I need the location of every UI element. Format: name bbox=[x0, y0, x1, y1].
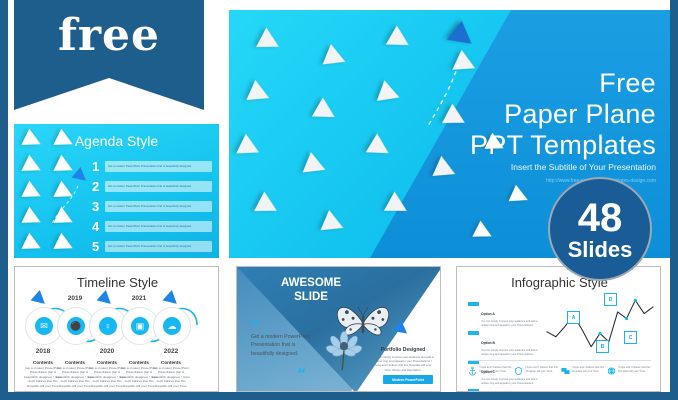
agenda-text: Get a modern PowerPoint Presentation tha… bbox=[108, 165, 192, 168]
infographic-legend: Option A You can simply impress your aud… bbox=[468, 302, 544, 392]
dumbbell-icon: ⚫ bbox=[67, 317, 85, 335]
agenda-leader-plane bbox=[72, 167, 91, 186]
timeline-year: 2021 bbox=[119, 295, 159, 302]
timeline-content-text: Get a modern PowerPoint Presentation tha… bbox=[151, 366, 191, 388]
timeline-year: 2020 bbox=[87, 348, 127, 355]
agenda-row[interactable]: 2 Get a modern PowerPoint Presentation t… bbox=[92, 178, 212, 195]
footer-text: I hope and I believe that this Template … bbox=[618, 366, 651, 376]
agenda-bar: Get a modern PowerPoint Presentation tha… bbox=[105, 161, 212, 172]
globe-icon bbox=[607, 366, 616, 376]
agenda-bar: Get a modern PowerPoint Presentation tha… bbox=[105, 221, 212, 232]
modern-powerpoint-button[interactable]: Modern PowerPoint bbox=[383, 375, 433, 384]
agenda-slide[interactable]: Agenda Style 1 Get a modern PowerPoint P… bbox=[14, 124, 219, 258]
agenda-title: Agenda Style bbox=[14, 133, 219, 149]
chart-marker-c[interactable]: C bbox=[624, 331, 637, 344]
awesome-title-line-1: AWESOME bbox=[281, 277, 341, 289]
agenda-number: 2 bbox=[92, 179, 105, 194]
agenda-bar: Get a modern PowerPoint Presentation tha… bbox=[105, 201, 212, 212]
portfolio-block: Portfolio Designed You can simply impres… bbox=[372, 347, 434, 372]
footer-item: I hope and I believe that this Template … bbox=[514, 366, 558, 376]
timeline-slide[interactable]: Timeline Style ✉ ⚫ ♀ ▣ ☁ 2018 2019 2020 bbox=[14, 266, 219, 392]
legend-text: You can simply impress your audience and… bbox=[481, 320, 541, 328]
slides-count-number: 48 bbox=[578, 198, 623, 238]
quote-close-icon: ” bbox=[297, 365, 306, 384]
infographic-slide[interactable]: Infographic Style Option A You can simpl… bbox=[456, 266, 661, 392]
footer-text: I hope and I believe that this Template … bbox=[479, 366, 512, 376]
footer-item: I hope and I believe that this Template … bbox=[468, 366, 512, 376]
footer-text: I hope and I believe that this Template … bbox=[572, 366, 605, 376]
agenda-list: 1 Get a modern PowerPoint Presentation t… bbox=[92, 158, 212, 258]
legend-item: Option A You can simply impress your aud… bbox=[468, 302, 544, 328]
camera-icon: ▣ bbox=[131, 317, 149, 335]
timeline-year: 2019 bbox=[55, 295, 95, 302]
agenda-row[interactable]: 4 Get a modern PowerPoint Presentation t… bbox=[92, 218, 212, 235]
ribbon-point bbox=[14, 78, 204, 110]
infographic-footer: I hope and I believe that this Template … bbox=[468, 366, 651, 376]
timeline-year: 2022 bbox=[151, 348, 191, 355]
hero-title-line-2: Paper Plane bbox=[396, 99, 656, 130]
agenda-text: Get a modern PowerPoint Presentation tha… bbox=[108, 205, 192, 208]
infographic-divider bbox=[468, 360, 651, 361]
agenda-number: 3 bbox=[92, 199, 105, 214]
chart-marker-d[interactable]: D bbox=[604, 293, 617, 306]
ribbon-label: free bbox=[14, 10, 204, 61]
agenda-row[interactable]: 5 Get a modern PowerPoint Presentation t… bbox=[92, 238, 212, 255]
timeline-content-heading: Contents bbox=[151, 360, 191, 365]
awesome-slide[interactable]: AWESOME SLIDE “ Get a modern PowerPoint … bbox=[236, 266, 441, 392]
agenda-bar: Get a modern PowerPoint Presentation tha… bbox=[105, 181, 212, 192]
legend-item: Option D You can simply impress your aud… bbox=[468, 389, 544, 392]
infographic-title: Infographic Style bbox=[457, 275, 661, 290]
hero-title-block: Free Paper Plane PPT Templates bbox=[396, 68, 656, 160]
agenda-text: Get a modern PowerPoint Presentation tha… bbox=[108, 245, 192, 248]
agenda-bar: Get a modern PowerPoint Presentation tha… bbox=[105, 241, 212, 252]
legend-swatch-icon bbox=[468, 389, 479, 392]
chart-marker-b[interactable]: B bbox=[596, 340, 609, 353]
portfolio-text: You can simply impress your audience and… bbox=[372, 355, 434, 372]
trophy-icon: ♀ bbox=[99, 317, 117, 335]
timeline-year: 2018 bbox=[23, 348, 63, 355]
agenda-row[interactable]: 1 Get a modern PowerPoint Presentation t… bbox=[92, 158, 212, 175]
envelope-icon: ✉ bbox=[35, 317, 53, 335]
awesome-title: AWESOME SLIDE bbox=[265, 276, 357, 305]
hero-title-line-1: Free bbox=[396, 68, 656, 99]
awesome-quote-text: Get a modern PowerPoint Presentation tha… bbox=[251, 333, 315, 358]
hero-subtitle: Insert the Subtitle of Your Presentation bbox=[376, 162, 656, 172]
legend-text: You can simply impress your audience and… bbox=[481, 378, 541, 386]
legend-label: Option B bbox=[481, 341, 495, 345]
agenda-text: Get a modern PowerPoint Presentation tha… bbox=[108, 225, 192, 228]
agenda-text: Get a modern PowerPoint Presentation tha… bbox=[108, 185, 192, 188]
footer-text: I hope and I believe that this Template … bbox=[525, 366, 558, 376]
legend-swatch-icon bbox=[468, 331, 479, 335]
awesome-title-line-2: SLIDE bbox=[294, 291, 328, 303]
slides-count-badge: 48 Slides bbox=[548, 177, 652, 281]
chat-icon bbox=[561, 366, 570, 376]
legend-swatch-icon bbox=[468, 302, 479, 306]
cloud-icon: ☁ bbox=[163, 317, 181, 335]
footer-item: I hope and I believe that this Template … bbox=[561, 366, 605, 376]
timeline-node[interactable]: ☁ bbox=[153, 307, 191, 345]
timeline-title: Timeline Style bbox=[15, 275, 219, 290]
hero-title-line-3: PPT Templates bbox=[396, 130, 656, 161]
timeline-content: Contents Get a modern PowerPoint Present… bbox=[151, 360, 191, 388]
chart-marker-a[interactable]: A bbox=[567, 311, 580, 324]
portfolio-heading: Portfolio Designed bbox=[372, 347, 434, 353]
agenda-row[interactable]: 3 Get a modern PowerPoint Presentation t… bbox=[92, 198, 212, 215]
screenshot-root: free F bbox=[0, 0, 678, 400]
shield-icon bbox=[514, 366, 523, 376]
anchor-icon bbox=[468, 366, 477, 376]
agenda-number: 5 bbox=[92, 239, 105, 254]
footer-item: I hope and I believe that this Template … bbox=[607, 366, 651, 376]
agenda-number: 1 bbox=[92, 159, 105, 174]
legend-text: You can simply impress your audience and… bbox=[481, 349, 541, 357]
slides-count-label: Slides bbox=[568, 239, 633, 261]
free-ribbon-banner: free bbox=[14, 0, 204, 110]
legend-label: Option A bbox=[481, 312, 495, 316]
flower-image bbox=[321, 325, 367, 371]
legend-item: Option B You can simply impress your aud… bbox=[468, 331, 544, 357]
agenda-number: 4 bbox=[92, 219, 105, 234]
